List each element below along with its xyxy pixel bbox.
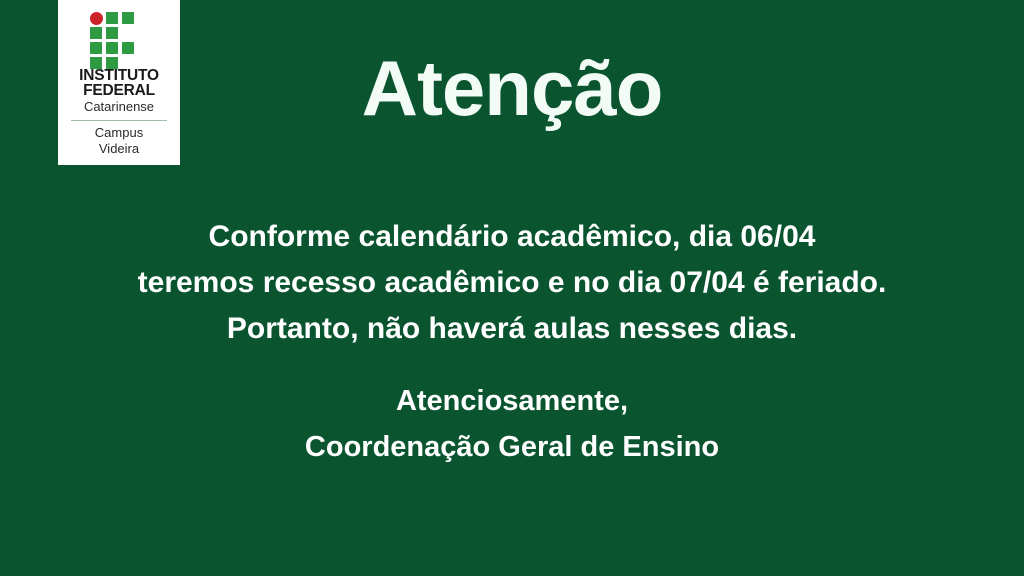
signature-line: Atenciosamente,	[0, 378, 1024, 424]
announcement-body: Conforme calendário acadêmico, dia 06/04…	[0, 214, 1024, 352]
body-line: Conforme calendário acadêmico, dia 06/04	[0, 214, 1024, 260]
logo-campus-name: Videira	[99, 141, 139, 157]
signature-line: Coordenação Geral de Ensino	[0, 424, 1024, 470]
page-title: Atenção	[0, 48, 1024, 130]
announcement-signature: Atenciosamente, Coordenação Geral de Ens…	[0, 378, 1024, 470]
announcement-slide: INSTITUTO FEDERAL Catarinense Campus Vid…	[0, 0, 1024, 576]
body-line: Portanto, não haverá aulas nesses dias.	[0, 306, 1024, 352]
body-line: teremos recesso acadêmico e no dia 07/04…	[0, 260, 1024, 306]
